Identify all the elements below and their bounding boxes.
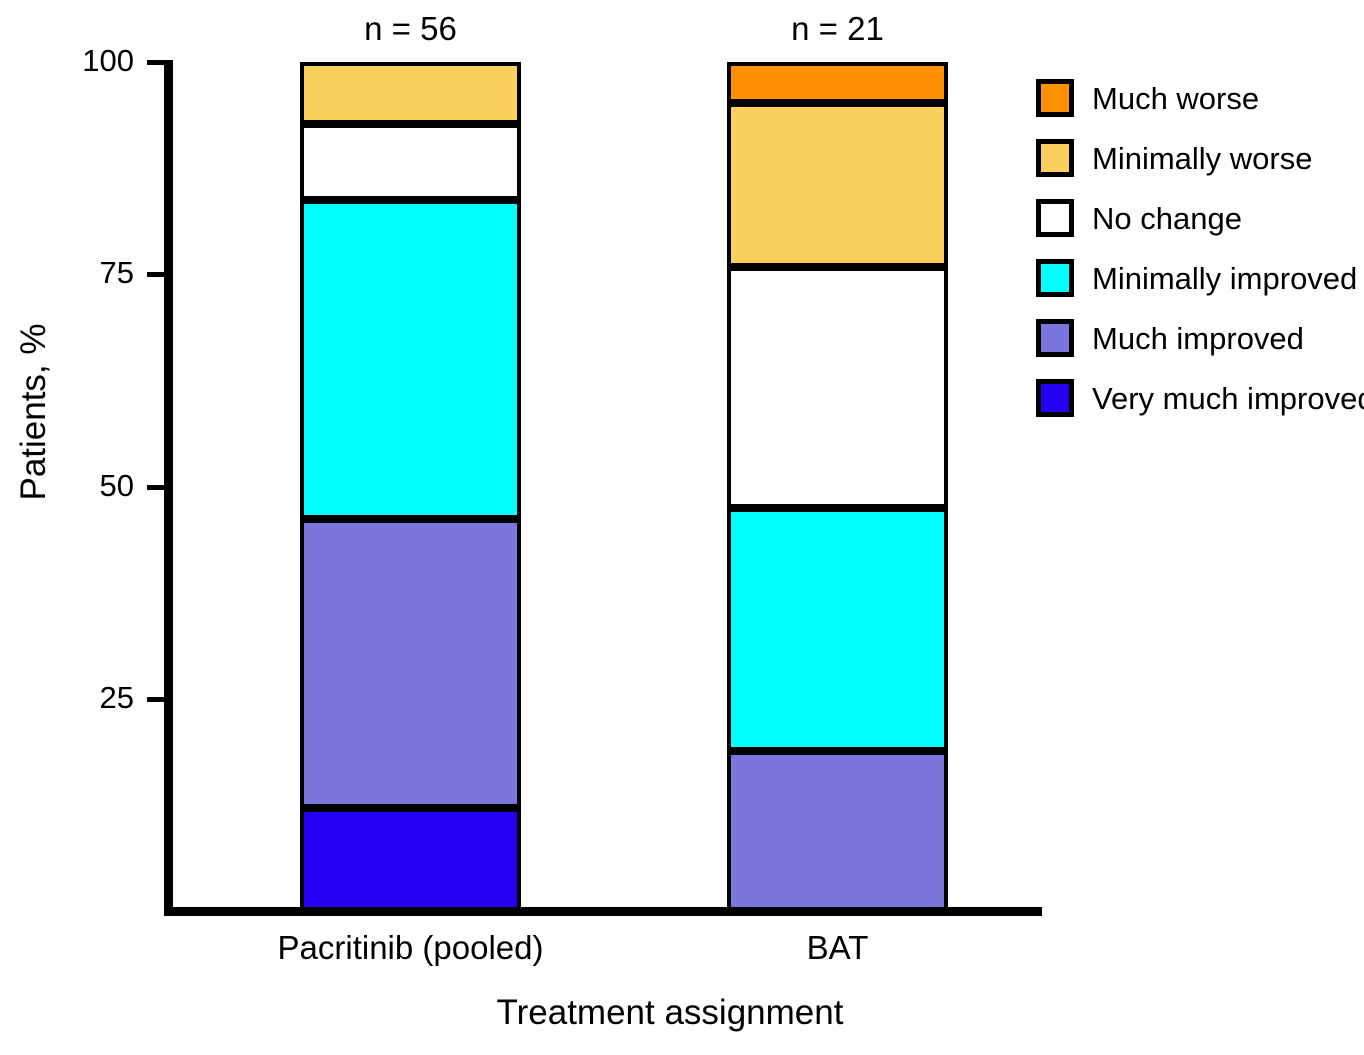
legend-item-label: Very much improved <box>1092 382 1364 415</box>
legend-color-swatch <box>1036 199 1074 237</box>
bar-segment <box>727 62 948 103</box>
legend-color-swatch <box>1036 139 1074 177</box>
bar-segment <box>300 62 521 124</box>
legend-color-swatch <box>1036 259 1074 297</box>
y-axis-tick-mark <box>147 697 164 702</box>
y-axis-tick-mark <box>147 272 164 277</box>
legend-item-label: Minimally improved <box>1092 262 1357 295</box>
legend-item-label: No change <box>1092 202 1242 235</box>
y-axis-tick-mark <box>147 485 164 490</box>
legend-item-label: Much improved <box>1092 322 1304 355</box>
legend-item-label: Much worse <box>1092 82 1259 115</box>
legend-item[interactable]: Minimally worse <box>1036 128 1364 188</box>
legend-item[interactable]: No change <box>1036 188 1364 248</box>
y-axis-tick-label: 75 <box>52 257 134 289</box>
bar-group: n = 56Pacritinib (pooled) <box>300 62 521 911</box>
bar-sample-size-label: n = 21 <box>727 10 948 48</box>
y-axis-line <box>164 60 173 915</box>
legend-item[interactable]: Much worse <box>1036 68 1364 128</box>
y-axis-title: Patients, % <box>14 282 54 542</box>
bar-segment <box>727 103 948 267</box>
legend-color-swatch <box>1036 79 1074 117</box>
legend-color-swatch <box>1036 379 1074 417</box>
legend: Much worseMinimally worseNo changeMinima… <box>1036 68 1364 428</box>
y-axis-tick-mark <box>147 60 164 65</box>
legend-item-label: Minimally worse <box>1092 142 1312 175</box>
legend-item[interactable]: Minimally improved <box>1036 248 1364 308</box>
bar-group: n = 21BAT <box>727 62 948 911</box>
bar-segment <box>727 508 948 751</box>
bar-segment <box>727 267 948 508</box>
x-axis-category-label: BAT <box>607 929 1068 967</box>
bar-segment <box>727 751 948 911</box>
bar-sample-size-label: n = 56 <box>300 10 521 48</box>
x-axis-category-label: Pacritinib (pooled) <box>180 929 641 967</box>
bar-segment <box>300 200 521 518</box>
y-axis-tick-label: 25 <box>52 682 134 714</box>
y-axis-tick-label: 100 <box>52 45 134 77</box>
bar-segment <box>300 124 521 200</box>
bar-segment <box>300 519 521 809</box>
legend-item[interactable]: Very much improved <box>1036 368 1364 428</box>
x-axis-title: Treatment assignment <box>180 993 1160 1033</box>
bar-segment <box>300 808 521 911</box>
stacked-bar-chart: Patients, % Treatment assignment 1007550… <box>0 0 1364 1055</box>
legend-item[interactable]: Much improved <box>1036 308 1364 368</box>
y-axis-tick-label: 50 <box>52 470 134 502</box>
legend-color-swatch <box>1036 319 1074 357</box>
